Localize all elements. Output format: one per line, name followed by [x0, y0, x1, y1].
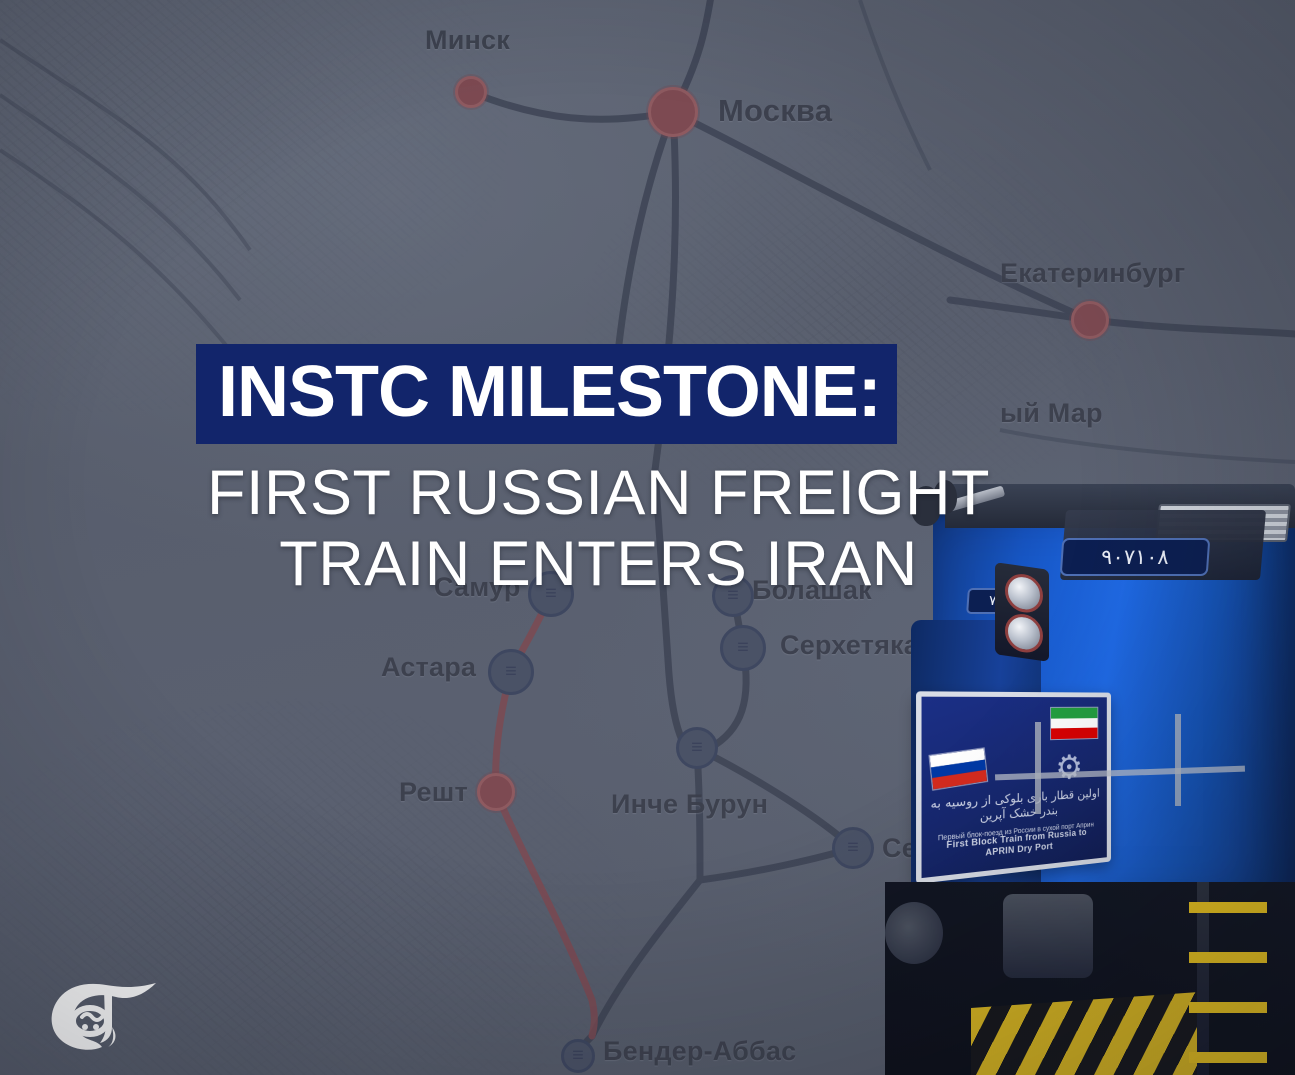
- map-label-bandar-abbas: Бендер-Аббас: [603, 1036, 796, 1067]
- station-glyph-bandar-abbas: ≡: [572, 1045, 584, 1068]
- station-glyph-astara: ≡: [505, 661, 517, 684]
- headline-block: INSTC MILESTONE: FIRST RUSSIAN FREIGHT T…: [196, 344, 1196, 599]
- locomotive-underframe: [885, 882, 1295, 1075]
- russia-flag-icon: [928, 747, 988, 790]
- headlamp-lower: [1005, 612, 1043, 655]
- headline-subtitle: FIRST RUSSIAN FREIGHT TRAIN ENTERS IRAN: [196, 458, 1001, 599]
- banner-text-farsi: اولین قطار باری بلوکی از روسیه به بندر خ…: [930, 786, 1100, 828]
- map-node-resht: [477, 773, 515, 811]
- station-glyph-serahs: ≡: [847, 837, 859, 860]
- subtitle-line-1: FIRST RUSSIAN FREIGHT: [196, 458, 1001, 529]
- coupler-head: [1003, 894, 1093, 978]
- map-label-minsk: Минск: [425, 25, 510, 56]
- handrail-stanchion-left: [1035, 722, 1041, 814]
- page-title: INSTC MILESTONE:: [196, 344, 897, 444]
- handrail-stanchion-right: [1175, 714, 1181, 806]
- access-ladder: [1189, 884, 1281, 1075]
- map-node-moscow: [648, 87, 698, 137]
- logo-calligraphy-icon: [28, 965, 178, 1065]
- map-label-yekaterinburg: Екатеринбург: [1000, 258, 1185, 289]
- map-label-inche-burun: Инче Бурун: [611, 789, 768, 820]
- iran-flag-icon: [1050, 707, 1098, 740]
- al-mayadeen-logo[interactable]: [28, 965, 178, 1065]
- station-glyph-serhetyaka: ≡: [737, 637, 749, 660]
- map-label-astara: Астара: [381, 652, 476, 683]
- commemorative-banner: ⚙ اولین قطار باری بلوکی از روسیه به بندر…: [916, 691, 1111, 884]
- map-label-moscow: Москва: [718, 93, 832, 129]
- social-card: ≡≡≡≡≡≡≡ МинскМоскваЕкатеринбургый МарСам…: [0, 0, 1295, 1075]
- map-node-minsk: [455, 76, 487, 108]
- subtitle-line-2: TRAIN ENTERS IRAN: [196, 529, 1001, 600]
- hazard-stripe-panel: [971, 992, 1199, 1075]
- map-node-yekaterinburg: [1071, 301, 1109, 339]
- station-glyph-inche-burun: ≡: [691, 737, 703, 760]
- map-label-resht: Решт: [399, 777, 468, 808]
